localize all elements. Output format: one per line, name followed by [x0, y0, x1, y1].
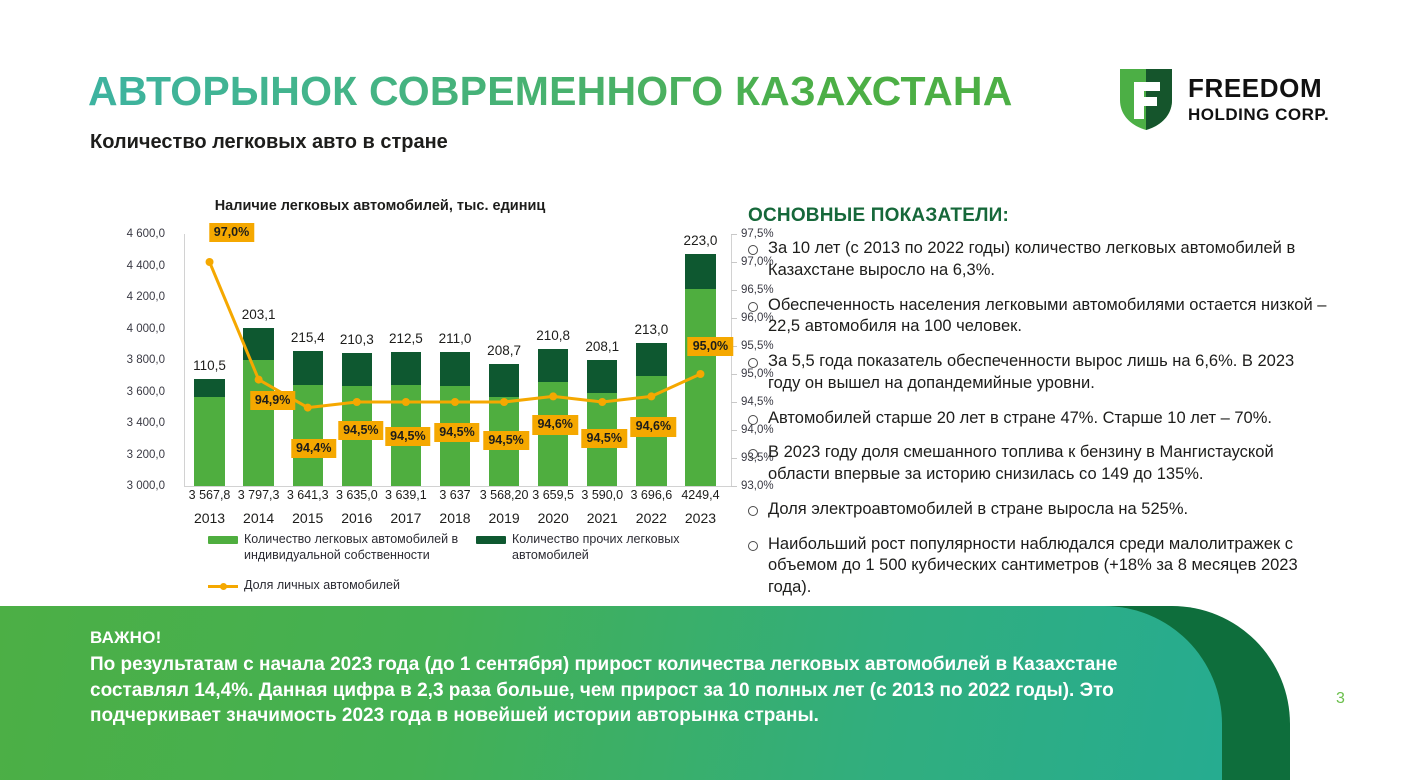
- legend-item-share: Доля личных автомобилей: [208, 577, 400, 593]
- x-axis-category-label: 2015: [292, 510, 323, 526]
- bar-base-value-label: 3 641,3: [283, 488, 332, 502]
- legend-swatch-light-green-icon: [208, 536, 238, 544]
- chart-title: Наличие легковых автомобилей, тыс. едини…: [80, 198, 680, 214]
- x-axis-category-label: 2017: [390, 510, 421, 526]
- bullet-circle-icon: [748, 506, 758, 516]
- share-value-badge: 97,0%: [209, 223, 254, 242]
- y-axis-tick-label: 4 200,0: [127, 291, 165, 303]
- share-value-badge: 94,6%: [631, 417, 676, 436]
- share-value-badge: 94,5%: [483, 431, 528, 450]
- legend-label-personal: Количество легковых автомобилей в индиви…: [244, 531, 476, 564]
- banner-heading: ВАЖНО!: [90, 628, 1170, 648]
- x-axis-category-label: 2013: [194, 510, 225, 526]
- bar-base-value-label: 3 635,0: [332, 488, 381, 502]
- bullet-circle-icon: [748, 245, 758, 255]
- share-value-badge: 95,0%: [688, 337, 733, 356]
- logo-line-2: HOLDING CORP.: [1188, 106, 1329, 123]
- legend-item-personal: Количество легковых автомобилей в индиви…: [208, 531, 476, 564]
- page-number: 3: [1336, 690, 1345, 708]
- legend-line-marker-icon: [208, 582, 238, 590]
- indicator-bullet-text: Автомобилей старше 20 лет в стране 47%. …: [768, 408, 1272, 430]
- indicator-bullet-text: Наибольший рост популярности наблюдался …: [768, 534, 1328, 599]
- y2-axis-tick: [731, 402, 737, 403]
- y2-axis-tick: [731, 290, 737, 291]
- legend-swatch-dark-green-icon: [476, 536, 506, 544]
- y2-axis-tick: [731, 374, 737, 375]
- bullet-circle-icon: [748, 541, 758, 551]
- indicator-bullet-text: В 2023 году доля смешанного топлива к бе…: [768, 442, 1328, 486]
- bar-base-value-label: 3 568,20: [480, 488, 529, 502]
- chart: Наличие легковых автомобилей, тыс. едини…: [80, 198, 730, 598]
- y-axis-tick-label: 3 400,0: [127, 417, 165, 429]
- page-title: АВТОРЫНОК СОВРЕМЕННОГО КАЗАХСТАНА: [88, 68, 1013, 115]
- indicator-bullet-text: За 5,5 года показатель обеспеченности вы…: [768, 351, 1328, 395]
- y2-axis-tick: [731, 458, 737, 459]
- bar-base-value-label: 3 567,8: [185, 488, 234, 502]
- y2-axis-line: [731, 234, 732, 486]
- y-axis-tick-label: 4 400,0: [127, 260, 165, 272]
- y-axis-tick-label: 3 200,0: [127, 449, 165, 461]
- indicator-bullet: За 5,5 года показатель обеспеченности вы…: [748, 351, 1328, 395]
- indicator-bullet-text: Доля электроавтомобилей в стране выросла…: [768, 499, 1188, 521]
- indicators-list: За 10 лет (с 2013 по 2022 годы) количест…: [748, 238, 1328, 599]
- indicator-bullet: Автомобилей старше 20 лет в стране 47%. …: [748, 408, 1328, 430]
- x-axis-category-label: 2023: [685, 510, 716, 526]
- indicator-bullet-text: Обеспеченность населения легковыми автом…: [768, 295, 1328, 339]
- share-value-badge: 94,5%: [385, 427, 430, 446]
- page-subtitle: Количество легковых авто в стране: [90, 131, 448, 154]
- bullet-circle-icon: [748, 358, 758, 368]
- bar-base-value-label: 3 659,5: [529, 488, 578, 502]
- share-value-badge: 94,6%: [532, 415, 577, 434]
- share-value-badge: 94,5%: [338, 421, 383, 440]
- indicator-bullet: В 2023 году доля смешанного топлива к бе…: [748, 442, 1328, 486]
- chart-plot-area: 3 000,03 200,03 400,03 600,03 800,04 000…: [185, 234, 725, 486]
- bullet-circle-icon: [748, 449, 758, 459]
- x-axis-line: [184, 486, 732, 487]
- slide: АВТОРЫНОК СОВРЕМЕННОГО КАЗАХСТАНА Количе…: [0, 0, 1402, 780]
- indicator-bullet: Обеспеченность населения легковыми автом…: [748, 295, 1328, 339]
- x-axis-category-label: 2021: [587, 510, 618, 526]
- indicators-title: ОСНОВНЫЕ ПОКАЗАТЕЛИ:: [748, 205, 1328, 227]
- bar-base-value-label: 3 797,3: [234, 488, 283, 502]
- bar-base-value-label: 3 637: [430, 488, 479, 502]
- y-axis-tick-label: 3 800,0: [127, 354, 165, 366]
- x-axis-category-label: 2020: [538, 510, 569, 526]
- y2-axis-tick: [731, 430, 737, 431]
- bar-base-value-label: 3 696,6: [627, 488, 676, 502]
- indicator-bullet: Доля электроавтомобилей в стране выросла…: [748, 499, 1328, 521]
- y-axis-tick-label: 3 600,0: [127, 386, 165, 398]
- x-axis-category-label: 2014: [243, 510, 274, 526]
- bullet-circle-icon: [748, 302, 758, 312]
- bar-base-value-label: 3 639,1: [381, 488, 430, 502]
- brand-logo: FREEDOM HOLDING CORP.: [1118, 66, 1329, 132]
- y2-axis-tick: [731, 262, 737, 263]
- y-axis-tick-label: 4 000,0: [127, 323, 165, 335]
- x-axis-category-label: 2022: [636, 510, 667, 526]
- indicator-bullet: За 10 лет (с 2013 по 2022 годы) количест…: [748, 238, 1328, 282]
- indicator-bullet-text: За 10 лет (с 2013 по 2022 годы) количест…: [768, 238, 1328, 282]
- y2-axis-tick: [731, 318, 737, 319]
- legend-label-share: Доля личных автомобилей: [244, 577, 400, 593]
- shield-f-logo-icon: [1118, 66, 1174, 132]
- y2-axis-tick: [731, 234, 737, 235]
- x-axis-category-label: 2018: [439, 510, 470, 526]
- x-axis-category-label: 2016: [341, 510, 372, 526]
- share-value-badge: 94,5%: [582, 429, 627, 448]
- bar-base-value-label: 4249,4: [676, 488, 725, 502]
- logo-line-1: FREEDOM: [1188, 75, 1329, 101]
- share-value-badge: 94,5%: [434, 423, 479, 442]
- bar-base-value-label: 3 590,0: [578, 488, 627, 502]
- important-banner: ВАЖНО! По результатам с начала 2023 года…: [0, 606, 1222, 780]
- y-axis-tick-label: 4 600,0: [127, 228, 165, 240]
- y-axis-tick-label: 3 000,0: [127, 480, 165, 492]
- indicators-panel: ОСНОВНЫЕ ПОКАЗАТЕЛИ: За 10 лет (с 2013 п…: [748, 205, 1328, 612]
- bullet-circle-icon: [748, 415, 758, 425]
- share-line-series: [185, 234, 725, 486]
- x-axis-category-label: 2019: [489, 510, 520, 526]
- y2-axis-tick: [731, 486, 737, 487]
- banner-body: По результатам с начала 2023 года (до 1 …: [90, 652, 1170, 729]
- share-value-badge: 94,4%: [291, 439, 336, 458]
- legend-item-other: Количество прочих легковых автомобилей: [476, 531, 716, 564]
- legend-label-other: Количество прочих легковых автомобилей: [512, 531, 716, 564]
- indicator-bullet: Наибольший рост популярности наблюдался …: [748, 534, 1328, 599]
- share-value-badge: 94,9%: [250, 391, 295, 410]
- chart-legend: Количество легковых автомобилей в индиви…: [208, 531, 728, 593]
